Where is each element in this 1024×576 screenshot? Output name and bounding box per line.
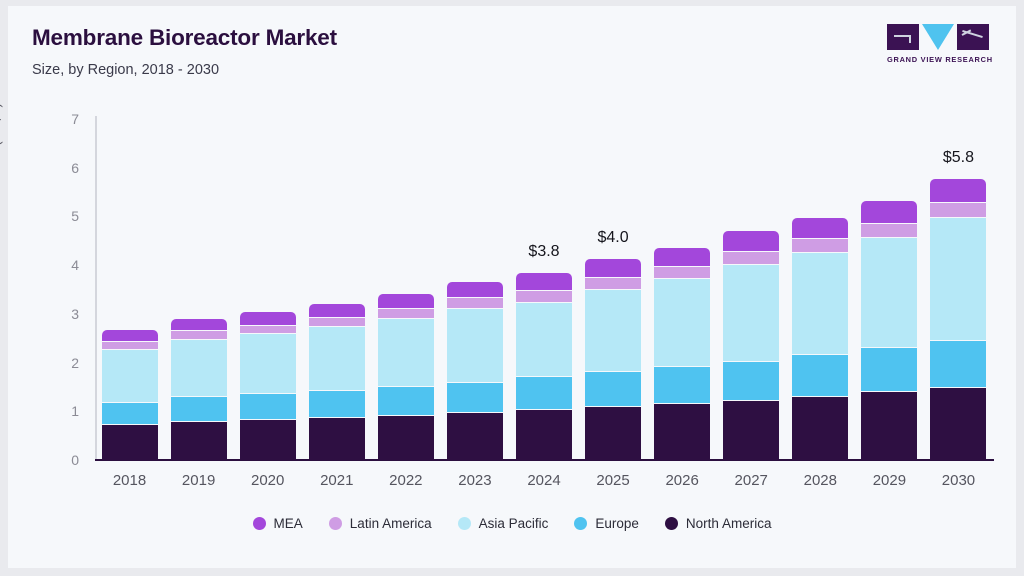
bar-stack-2027[interactable]	[723, 231, 779, 460]
y-tick-label: 6	[45, 160, 79, 176]
x-tick-label-2026: 2026	[642, 472, 722, 489]
bar-segment[interactable]	[516, 291, 572, 302]
bar-stack-2029[interactable]	[861, 201, 917, 460]
logo-wordmark: GRAND VIEW RESEARCH	[887, 55, 991, 64]
x-tick-label-2018: 2018	[90, 472, 170, 489]
legend-item-north-america[interactable]: North America	[665, 516, 772, 531]
bar-segment[interactable]	[516, 273, 572, 291]
bar-segment[interactable]	[240, 312, 296, 325]
bar-value-label: $4.0	[597, 229, 628, 247]
bar-segment[interactable]	[930, 179, 986, 203]
x-tick-label-2024: 2024	[504, 472, 584, 489]
grand-view-research-logo: GRAND VIEW RESEARCH	[887, 24, 991, 64]
bar-segment[interactable]	[102, 350, 158, 403]
bar-segment[interactable]	[378, 416, 434, 460]
bar-segment[interactable]	[171, 340, 227, 397]
bar-segment[interactable]	[723, 252, 779, 265]
y-tick-label: 7	[45, 111, 79, 127]
bar-segment[interactable]	[240, 334, 296, 394]
bar-segment[interactable]	[861, 392, 917, 460]
bar-segment[interactable]	[930, 203, 986, 218]
bar-segment[interactable]	[102, 342, 158, 350]
y-axis-ticks: 01234567	[45, 119, 79, 460]
bar-segment[interactable]	[516, 410, 572, 460]
y-tick-label: 3	[45, 306, 79, 322]
bar-segment[interactable]	[102, 330, 158, 342]
y-tick-label: 5	[45, 208, 79, 224]
bar-segment[interactable]	[861, 348, 917, 392]
bar-segment[interactable]	[309, 318, 365, 327]
bar-stack-2023[interactable]	[447, 282, 503, 460]
bar-segment[interactable]	[516, 303, 572, 377]
page-border-left	[0, 0, 8, 576]
legend-item-europe[interactable]: Europe	[574, 516, 639, 531]
bar-segment[interactable]	[792, 397, 848, 460]
legend-label: Asia Pacific	[479, 516, 549, 531]
bar-segment[interactable]	[654, 267, 710, 279]
bar-segment[interactable]	[792, 239, 848, 253]
bar-segment[interactable]	[447, 282, 503, 298]
logo-triangle-icon	[922, 24, 954, 50]
bar-segment[interactable]	[723, 265, 779, 362]
legend-label: North America	[686, 516, 772, 531]
bar-segment[interactable]	[447, 298, 503, 308]
x-tick-label-2019: 2019	[159, 472, 239, 489]
bar-stack-2020[interactable]	[240, 312, 296, 460]
bar-segment[interactable]	[654, 248, 710, 267]
chart-header: Membrane Bioreactor Market Size, by Regi…	[32, 24, 337, 80]
bar-segment[interactable]	[378, 309, 434, 319]
bar-segment[interactable]	[861, 238, 917, 348]
x-tick-label-2027: 2027	[711, 472, 791, 489]
logo-square-left-icon	[887, 24, 919, 50]
bar-value-label: $3.8	[528, 243, 559, 261]
bar-segment[interactable]	[102, 425, 158, 460]
bar-segment[interactable]	[585, 407, 641, 460]
legend-label: MEA	[274, 516, 303, 531]
plot-area: $3.8$4.0$5.8	[95, 119, 993, 460]
bar-segment[interactable]	[792, 253, 848, 355]
bar-segment[interactable]	[309, 304, 365, 318]
bar-stack-2021[interactable]	[309, 304, 365, 460]
bar-stack-2026[interactable]	[654, 248, 710, 460]
bar-segment[interactable]	[585, 259, 641, 278]
bar-segment[interactable]	[585, 278, 641, 290]
bar-segment[interactable]	[792, 355, 848, 396]
bar-segment[interactable]	[309, 391, 365, 418]
bar-segment[interactable]	[723, 401, 779, 460]
bar-segment[interactable]	[378, 294, 434, 309]
bar-segment[interactable]	[792, 218, 848, 239]
legend-item-asia-pacific[interactable]: Asia Pacific	[458, 516, 549, 531]
bar-segment[interactable]	[240, 420, 296, 460]
bar-segment[interactable]	[861, 201, 917, 223]
legend-swatch-icon	[253, 517, 266, 530]
logo-square-right-icon	[957, 24, 989, 50]
legend-item-mea[interactable]: MEA	[253, 516, 303, 531]
chart-title: Membrane Bioreactor Market	[32, 24, 337, 52]
y-tick-label: 1	[45, 403, 79, 419]
bar-segment[interactable]	[171, 319, 227, 332]
bar-segment[interactable]	[447, 309, 503, 384]
legend-swatch-icon	[329, 517, 342, 530]
x-tick-label-2030: 2030	[918, 472, 998, 489]
bar-segment[interactable]	[309, 327, 365, 391]
x-tick-label-2021: 2021	[297, 472, 377, 489]
chart-page: Membrane Bioreactor Market Size, by Regi…	[0, 0, 1024, 576]
y-tick-label: 2	[45, 355, 79, 371]
bar-stack-2025[interactable]: $4.0	[585, 259, 641, 460]
bar-segment[interactable]	[861, 224, 917, 239]
bar-segment[interactable]	[378, 319, 434, 387]
bar-segment[interactable]	[171, 422, 227, 460]
page-border-right	[1016, 0, 1024, 576]
page-border-bottom	[0, 568, 1024, 576]
bar-segment[interactable]	[171, 331, 227, 339]
bar-segment[interactable]	[654, 367, 710, 404]
bar-segment[interactable]	[654, 279, 710, 367]
legend-swatch-icon	[665, 517, 678, 530]
legend-item-latin-america[interactable]: Latin America	[329, 516, 432, 531]
bar-segment[interactable]	[240, 326, 296, 335]
chart-legend: MEALatin AmericaAsia PacificEuropeNorth …	[0, 516, 1024, 531]
bar-stack-2019[interactable]	[171, 319, 227, 460]
bar-stack-2030[interactable]: $5.8	[930, 179, 986, 460]
bar-segment[interactable]	[447, 383, 503, 413]
x-tick-label-2029: 2029	[849, 472, 929, 489]
chart-subtitle: Size, by Region, 2018 - 2030	[32, 61, 337, 80]
y-tick-label: 4	[45, 257, 79, 273]
bar-segment[interactable]	[102, 403, 158, 425]
bar-value-label: $5.8	[943, 149, 974, 167]
bar-segment[interactable]	[447, 413, 503, 460]
bar-segment[interactable]	[585, 372, 641, 407]
bar-group: $3.8$4.0$5.8	[95, 119, 993, 460]
legend-swatch-icon	[458, 517, 471, 530]
legend-label: Europe	[595, 516, 639, 531]
bar-stack-2024[interactable]: $3.8	[516, 273, 572, 460]
bar-segment[interactable]	[585, 290, 641, 373]
bar-stack-2028[interactable]	[792, 218, 848, 460]
bar-segment[interactable]	[930, 218, 986, 341]
legend-label: Latin America	[350, 516, 432, 531]
bar-segment[interactable]	[240, 394, 296, 420]
legend-swatch-icon	[574, 517, 587, 530]
bar-stack-2022[interactable]	[378, 294, 434, 460]
bar-segment[interactable]	[723, 362, 779, 401]
y-axis-title: Market Size (US$B)	[0, 103, 3, 218]
logo-marks	[887, 24, 991, 50]
bar-segment[interactable]	[171, 397, 227, 421]
bar-segment[interactable]	[516, 377, 572, 410]
page-border-top	[0, 0, 1024, 6]
x-tick-label-2025: 2025	[573, 472, 653, 489]
x-tick-label-2028: 2028	[780, 472, 860, 489]
bar-segment[interactable]	[654, 404, 710, 460]
bar-segment[interactable]	[930, 341, 986, 388]
bar-stack-2018[interactable]	[102, 330, 158, 460]
bar-segment[interactable]	[378, 387, 434, 416]
x-tick-label-2023: 2023	[435, 472, 515, 489]
bar-segment[interactable]	[309, 418, 365, 460]
x-tick-label-2020: 2020	[228, 472, 308, 489]
bar-segment[interactable]	[930, 388, 986, 460]
x-tick-label-2022: 2022	[366, 472, 446, 489]
bar-segment[interactable]	[723, 231, 779, 251]
y-tick-label: 0	[45, 452, 79, 468]
